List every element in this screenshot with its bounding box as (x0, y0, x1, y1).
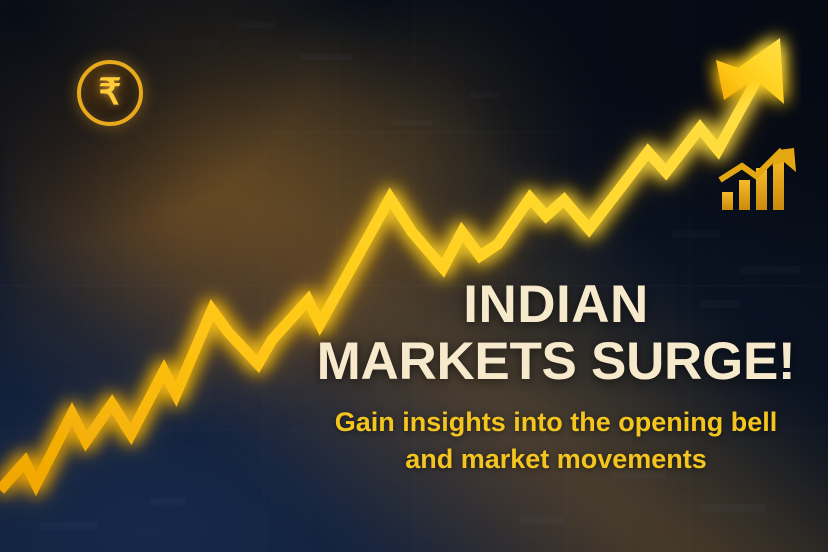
bar-chart-growth-icon (714, 140, 796, 210)
badge-bar (739, 180, 750, 210)
badge-bar (722, 192, 733, 210)
subtitle: Gain insights into the opening bell and … (296, 404, 816, 476)
page-title-line-2: MARKETS SURGE! (296, 333, 816, 390)
rupee-coin-icon: ₹ (77, 60, 143, 126)
page-title-line-1: INDIAN (296, 276, 816, 333)
headline-text-block: INDIAN MARKETS SURGE! Gain insights into… (296, 276, 816, 477)
market-surge-banner: ₹ INDIAN MARKETS SURGE! Gain insights in… (0, 0, 828, 552)
subtitle-line-2: and market movements (296, 441, 816, 477)
subtitle-line-1: Gain insights into the opening bell (296, 404, 816, 440)
rupee-symbol: ₹ (77, 60, 143, 126)
